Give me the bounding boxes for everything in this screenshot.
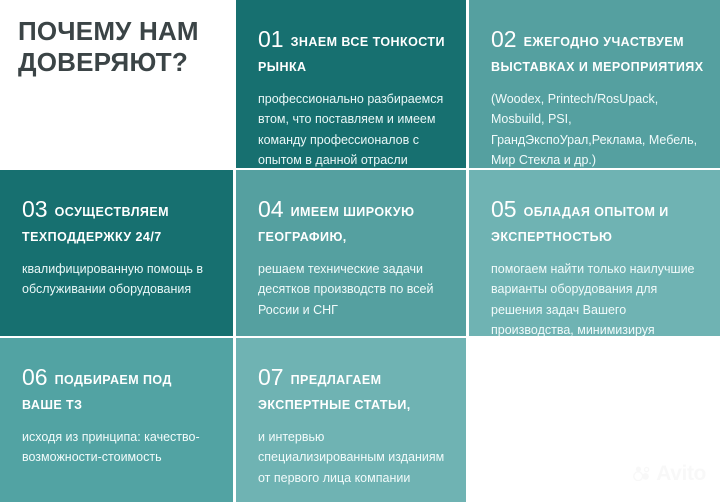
card-body: (Woodex, Printech/RosUpack, Mosbuild, PS… (491, 89, 706, 168)
card-body: помогаем найти только наилучшие варианты… (491, 259, 706, 336)
benefit-card-07[interactable]: 07ПРЕДЛАГАЕМ ЭКСПЕРТНЫЕ СТАТЬИ, и интерв… (236, 338, 466, 502)
card-body: исходя из принципа: качество-возможности… (22, 427, 213, 468)
benefit-card-05[interactable]: 05ОБЛАДАЯ ОПЫТОМ И ЭКСПЕРТНОСТЬЮ помогае… (469, 170, 720, 336)
card-number: 01 (258, 26, 284, 52)
card-heading: 01ЗНАЕМ ВСЕ ТОНКОСТИ РЫНКА (258, 22, 446, 77)
benefit-card-06[interactable]: 06ПОДБИРАЕМ ПОД ВАШЕ ТЗ исходя из принци… (0, 338, 233, 502)
card-heading: 02ЕЖЕГОДНО УЧАСТВУЕМ ВЫСТАВКАХ И МЕРОПРИ… (491, 22, 706, 77)
card-number: 05 (491, 196, 517, 222)
card-number: 04 (258, 196, 284, 222)
card-heading: 03ОСУЩЕСТВЛЯЕМ ТЕХПОДДЕРЖКУ 24/7 (22, 192, 213, 247)
benefit-card-03[interactable]: 03ОСУЩЕСТВЛЯЕМ ТЕХПОДДЕРЖКУ 24/7 квалифи… (0, 170, 233, 336)
card-heading: 04ИМЕЕМ ШИРОКУЮ ГЕОГРАФИЮ, (258, 192, 446, 247)
card-heading: 07ПРЕДЛАГАЕМ ЭКСПЕРТНЫЕ СТАТЬИ, (258, 360, 446, 415)
empty-cell (469, 338, 720, 502)
card-number: 02 (491, 26, 517, 52)
page-title: ПОЧЕМУ НАМ ДОВЕРЯЮТ? (18, 16, 215, 77)
card-number: 07 (258, 364, 284, 390)
card-body: и интервью специализированным изданиям о… (258, 427, 446, 488)
benefits-grid: ПОЧЕМУ НАМ ДОВЕРЯЮТ? 01ЗНАЕМ ВСЕ ТОНКОСТ… (0, 0, 720, 498)
card-body: квалифицированную помощь в обслуживании … (22, 259, 213, 300)
card-body: профессионально разбираемся втом, что по… (258, 89, 446, 168)
card-heading: 05ОБЛАДАЯ ОПЫТОМ И ЭКСПЕРТНОСТЬЮ (491, 192, 706, 247)
benefit-card-04[interactable]: 04ИМЕЕМ ШИРОКУЮ ГЕОГРАФИЮ, решаем технич… (236, 170, 466, 336)
benefit-card-02[interactable]: 02ЕЖЕГОДНО УЧАСТВУЕМ ВЫСТАВКАХ И МЕРОПРИ… (469, 0, 720, 168)
card-heading-text: ОБЛАДАЯ ОПЫТОМ И ЭКСПЕРТНОСТЬЮ (491, 205, 669, 244)
card-number: 03 (22, 196, 48, 222)
card-body: решаем технические задачи десятков произ… (258, 259, 446, 320)
benefit-card-01[interactable]: 01ЗНАЕМ ВСЕ ТОНКОСТИ РЫНКА профессиональ… (236, 0, 466, 168)
card-number: 06 (22, 364, 48, 390)
card-heading-text: ЕЖЕГОДНО УЧАСТВУЕМ ВЫСТАВКАХ И МЕРОПРИЯТ… (491, 35, 704, 74)
title-cell: ПОЧЕМУ НАМ ДОВЕРЯЮТ? (0, 0, 233, 168)
card-heading-text: ЗНАЕМ ВСЕ ТОНКОСТИ РЫНКА (258, 35, 445, 74)
card-heading: 06ПОДБИРАЕМ ПОД ВАШЕ ТЗ (22, 360, 213, 415)
